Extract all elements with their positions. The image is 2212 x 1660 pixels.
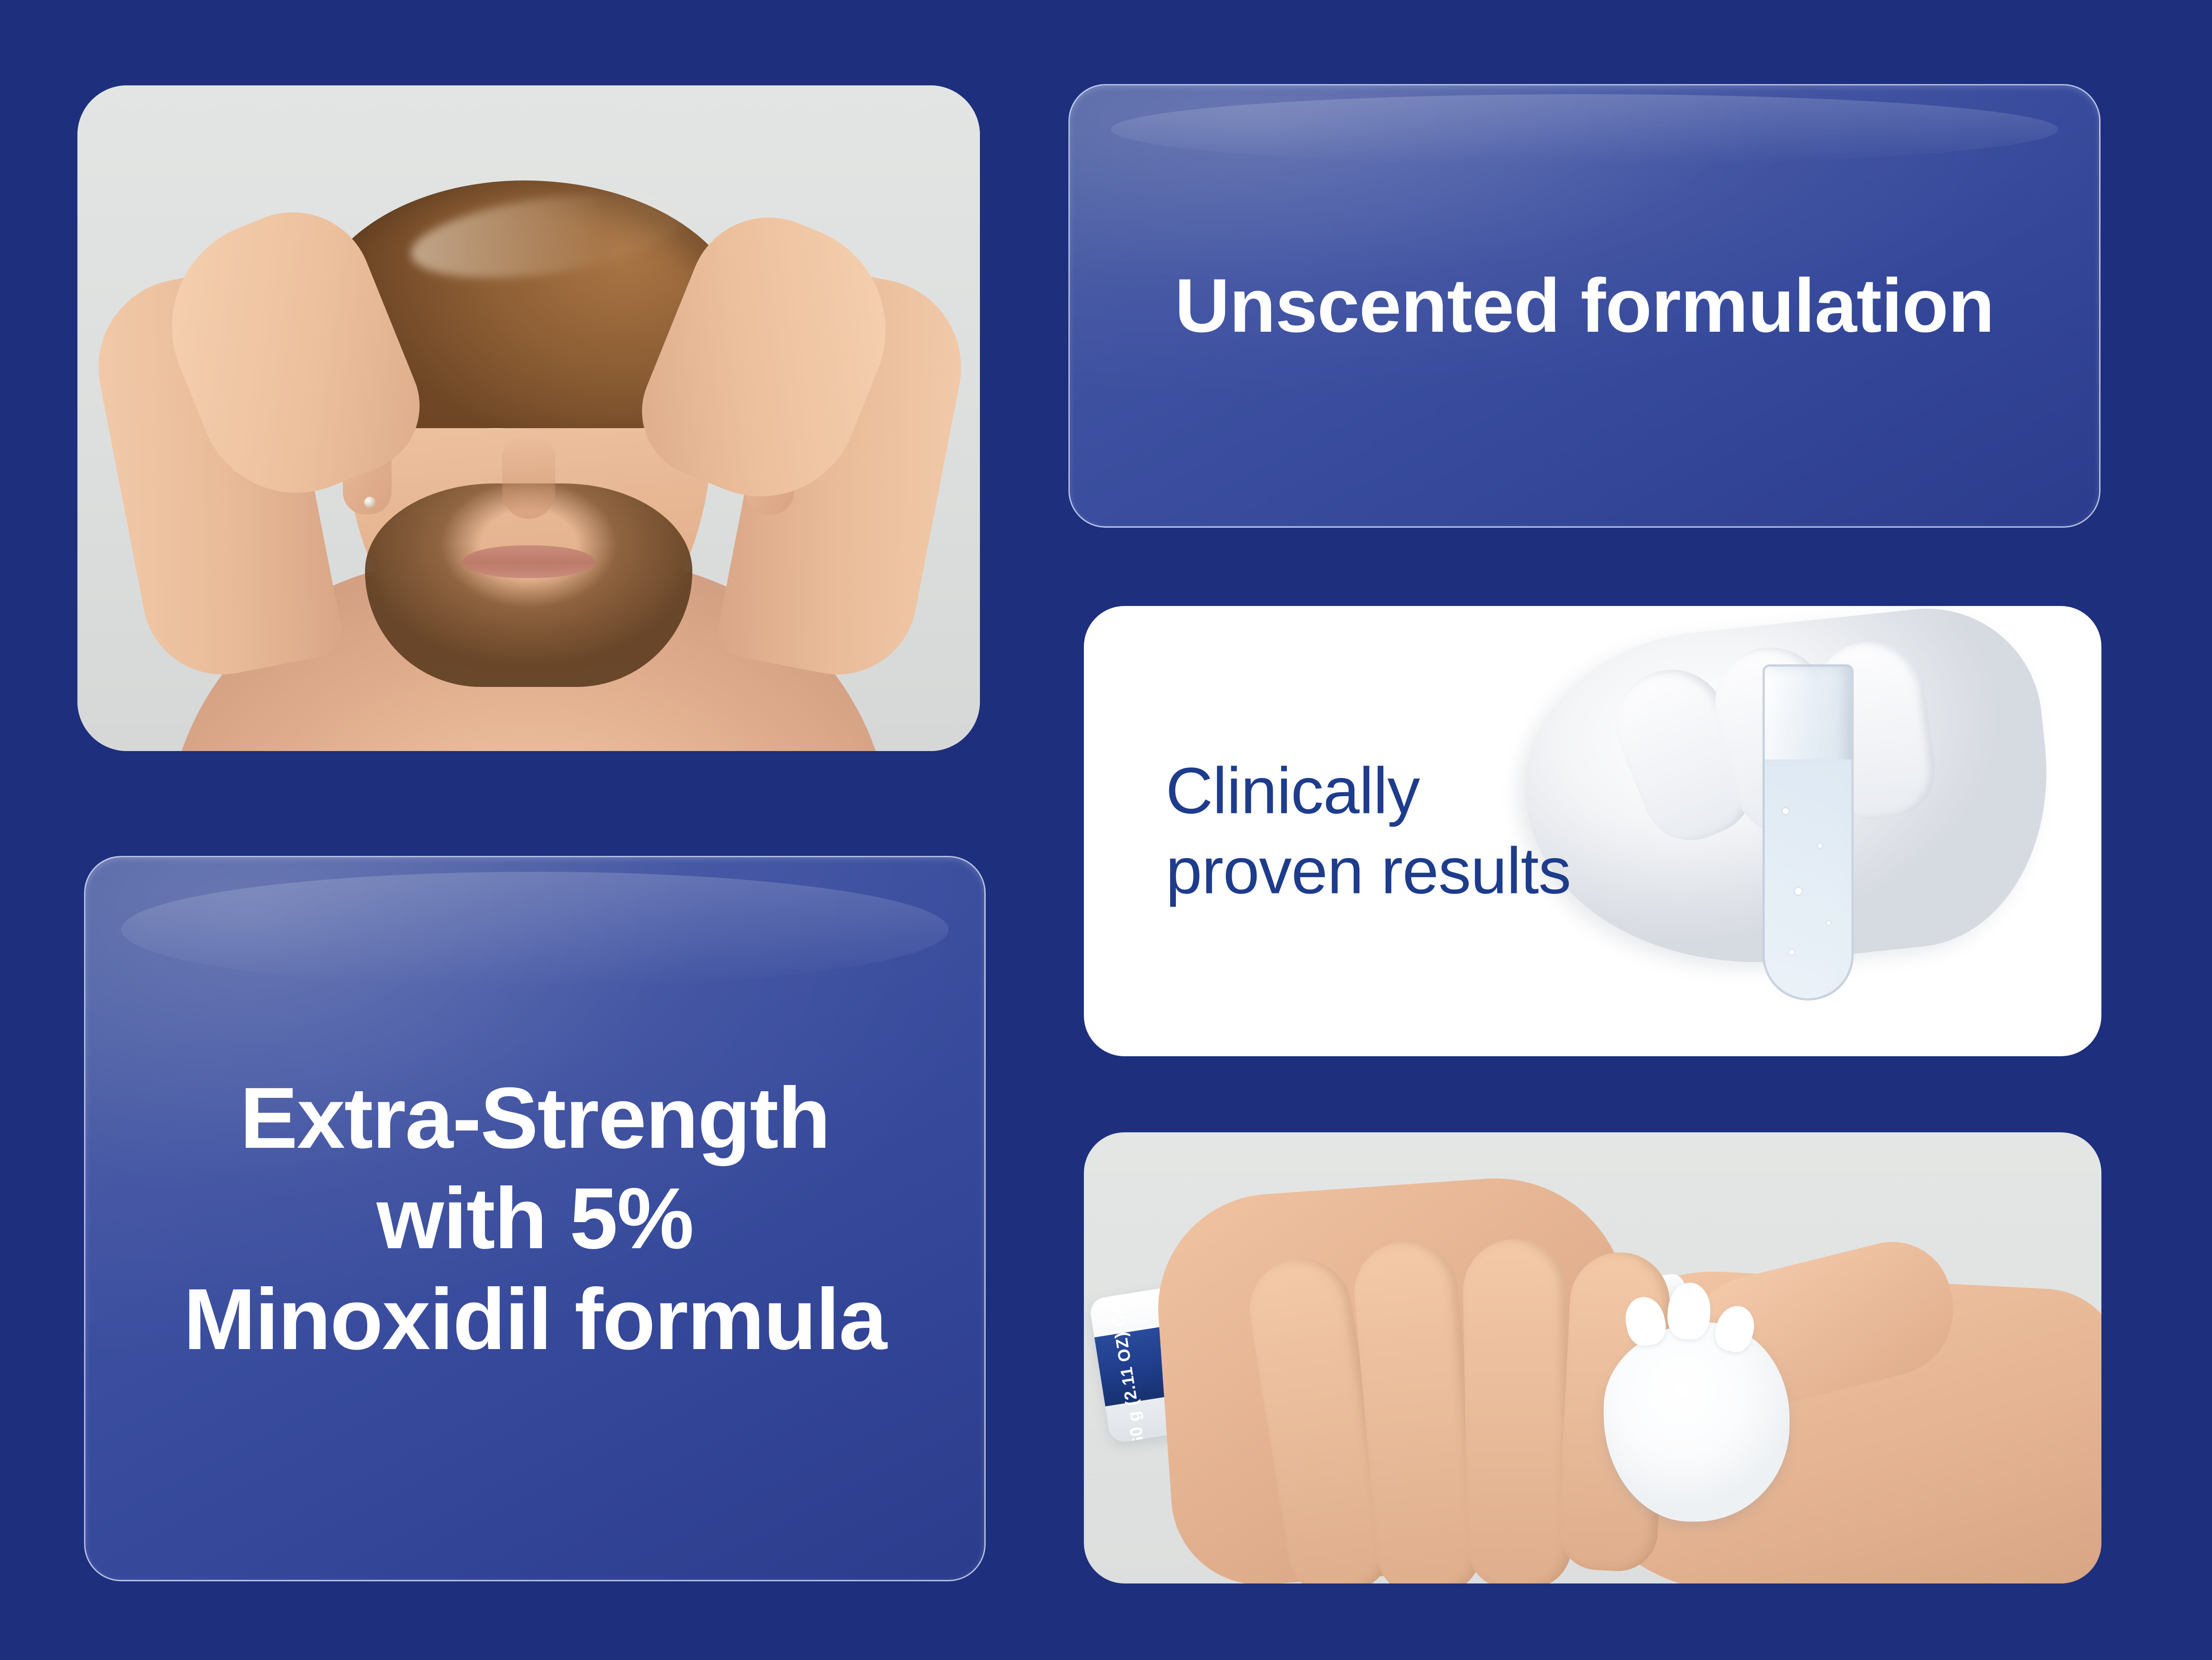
clinical-headline: Clinically proven results (1166, 751, 1571, 911)
can-net-weight-label: 60 g (2.11 OZ) CAN (1105, 1288, 1148, 1444)
tube-liquid (1765, 759, 1851, 998)
extra-strength-feature-card: Extra-Strength with 5% Minoxidil formula (84, 856, 986, 1581)
application-photo-card: 60 g (2.11 OZ) CAN REGEN (1084, 1132, 2101, 1583)
clinical-results-card: Clinically proven results (1084, 606, 2101, 1056)
unscented-feature-card: Unscented formulation (1068, 84, 2101, 528)
hand-finger (1462, 1238, 1572, 1583)
infographic-canvas: Unscented formulation Clinically proven … (0, 0, 2212, 1660)
earring-stud-icon (364, 497, 376, 508)
extra-strength-headline: Extra-Strength with 5% Minoxidil formula (144, 1068, 926, 1369)
dispensing-hand (1151, 1169, 1646, 1583)
portrait-photo-card (77, 85, 980, 751)
foam-dollop (1604, 1323, 1790, 1522)
test-tube-icon (1763, 664, 1854, 1001)
model-nose (502, 435, 555, 519)
model-lips (462, 545, 595, 578)
unscented-headline: Unscented formulation (1121, 263, 2047, 349)
